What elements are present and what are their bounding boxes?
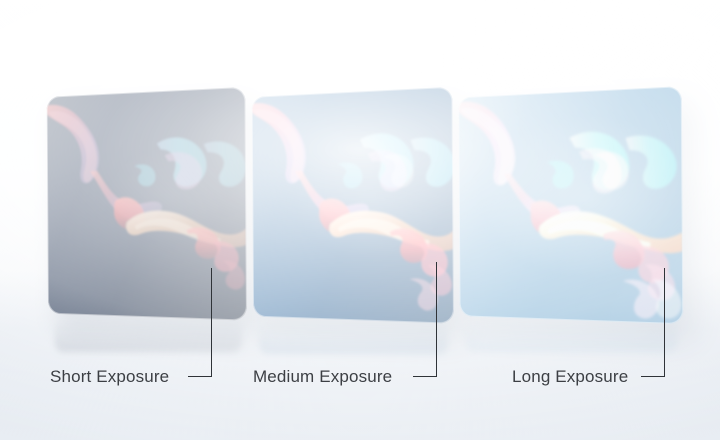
- leader-horizontal-long: [641, 376, 665, 377]
- exposure-comparison-scene: Short Exposure Medium Exposure Long Expo…: [0, 0, 720, 440]
- artwork-medium: [252, 87, 454, 324]
- leader-horizontal-medium: [413, 376, 437, 377]
- exposure-panel-medium[interactable]: [252, 87, 454, 324]
- artwork-long: [458, 86, 683, 324]
- panel-label-medium: Medium Exposure: [253, 368, 392, 385]
- leader-horizontal-short: [188, 376, 212, 377]
- artwork-short: [47, 87, 247, 321]
- panel-label-short: Short Exposure: [50, 368, 169, 385]
- panel-label-long: Long Exposure: [512, 368, 628, 385]
- exposure-panel-short[interactable]: [47, 87, 247, 321]
- panel-reflection-short: [55, 315, 243, 352]
- exposure-panel-long[interactable]: [458, 86, 683, 324]
